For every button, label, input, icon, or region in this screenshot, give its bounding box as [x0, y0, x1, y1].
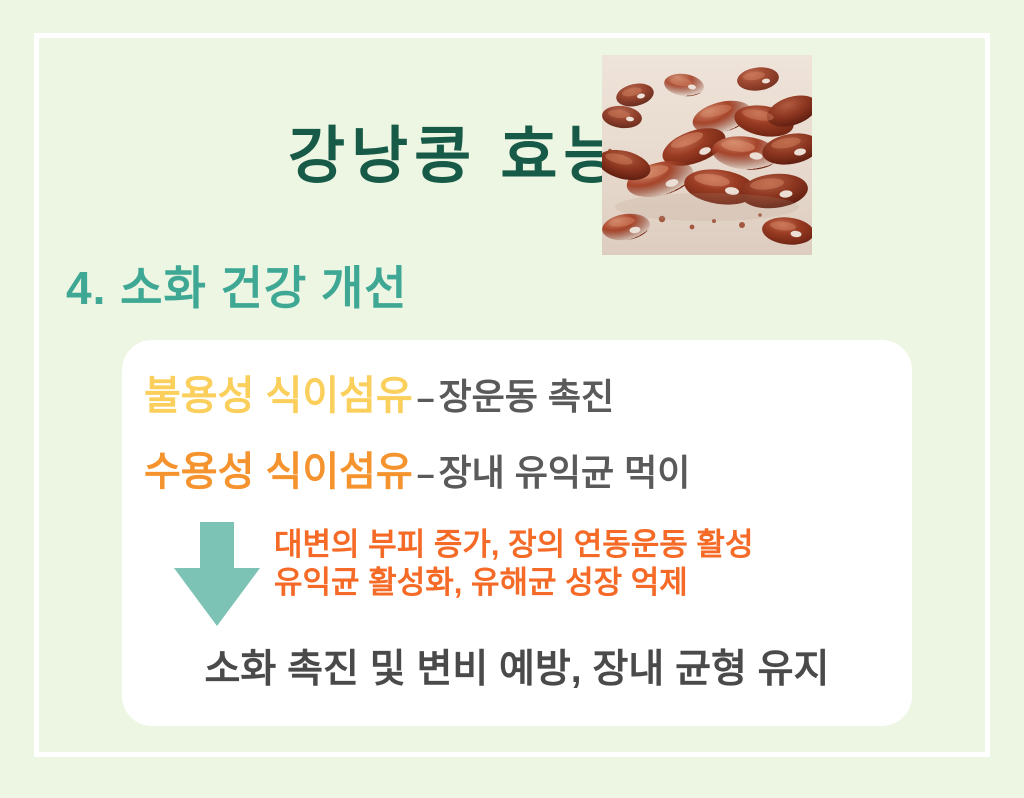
fiber-dash: –	[413, 456, 439, 492]
fiber-term-soluble: 수용성 식이섬유	[144, 450, 413, 494]
fiber-item-insoluble: 불용성 식이섬유–장운동 촉진	[144, 376, 614, 416]
fiber-dash: –	[413, 380, 439, 416]
fiber-effect-soluble: 장내 유익균 먹이	[439, 452, 691, 493]
kidney-beans-photo	[602, 55, 812, 255]
summary-line: 소화 촉진 및 변비 예방, 장내 균형 유지	[134, 638, 900, 694]
fiber-item-soluble: 수용성 식이섬유–장내 유익균 먹이	[144, 452, 690, 492]
detail-line: 대변의 부피 증가, 장의 연동운동 활성	[274, 526, 753, 564]
section-heading: 4. 소화 건강 개선	[66, 252, 408, 318]
content-card: 불용성 식이섬유–장운동 촉진 수용성 식이섬유–장내 유익균 먹이 대변의 부…	[122, 340, 912, 726]
title-row: 강낭콩 효능	[0, 112, 1024, 208]
fiber-term-insoluble: 불용성 식이섬유	[144, 374, 413, 418]
detail-text-block: 대변의 부피 증가, 장의 연동운동 활성 유익균 활성화, 유해균 성장 억제	[274, 526, 753, 602]
down-arrow-icon	[168, 520, 266, 628]
detail-line: 유익균 활성화, 유해균 성장 억제	[274, 564, 753, 602]
fiber-effect-insoluble: 장운동 촉진	[439, 376, 615, 417]
slide-canvas: 강낭콩 효능	[0, 0, 1024, 798]
